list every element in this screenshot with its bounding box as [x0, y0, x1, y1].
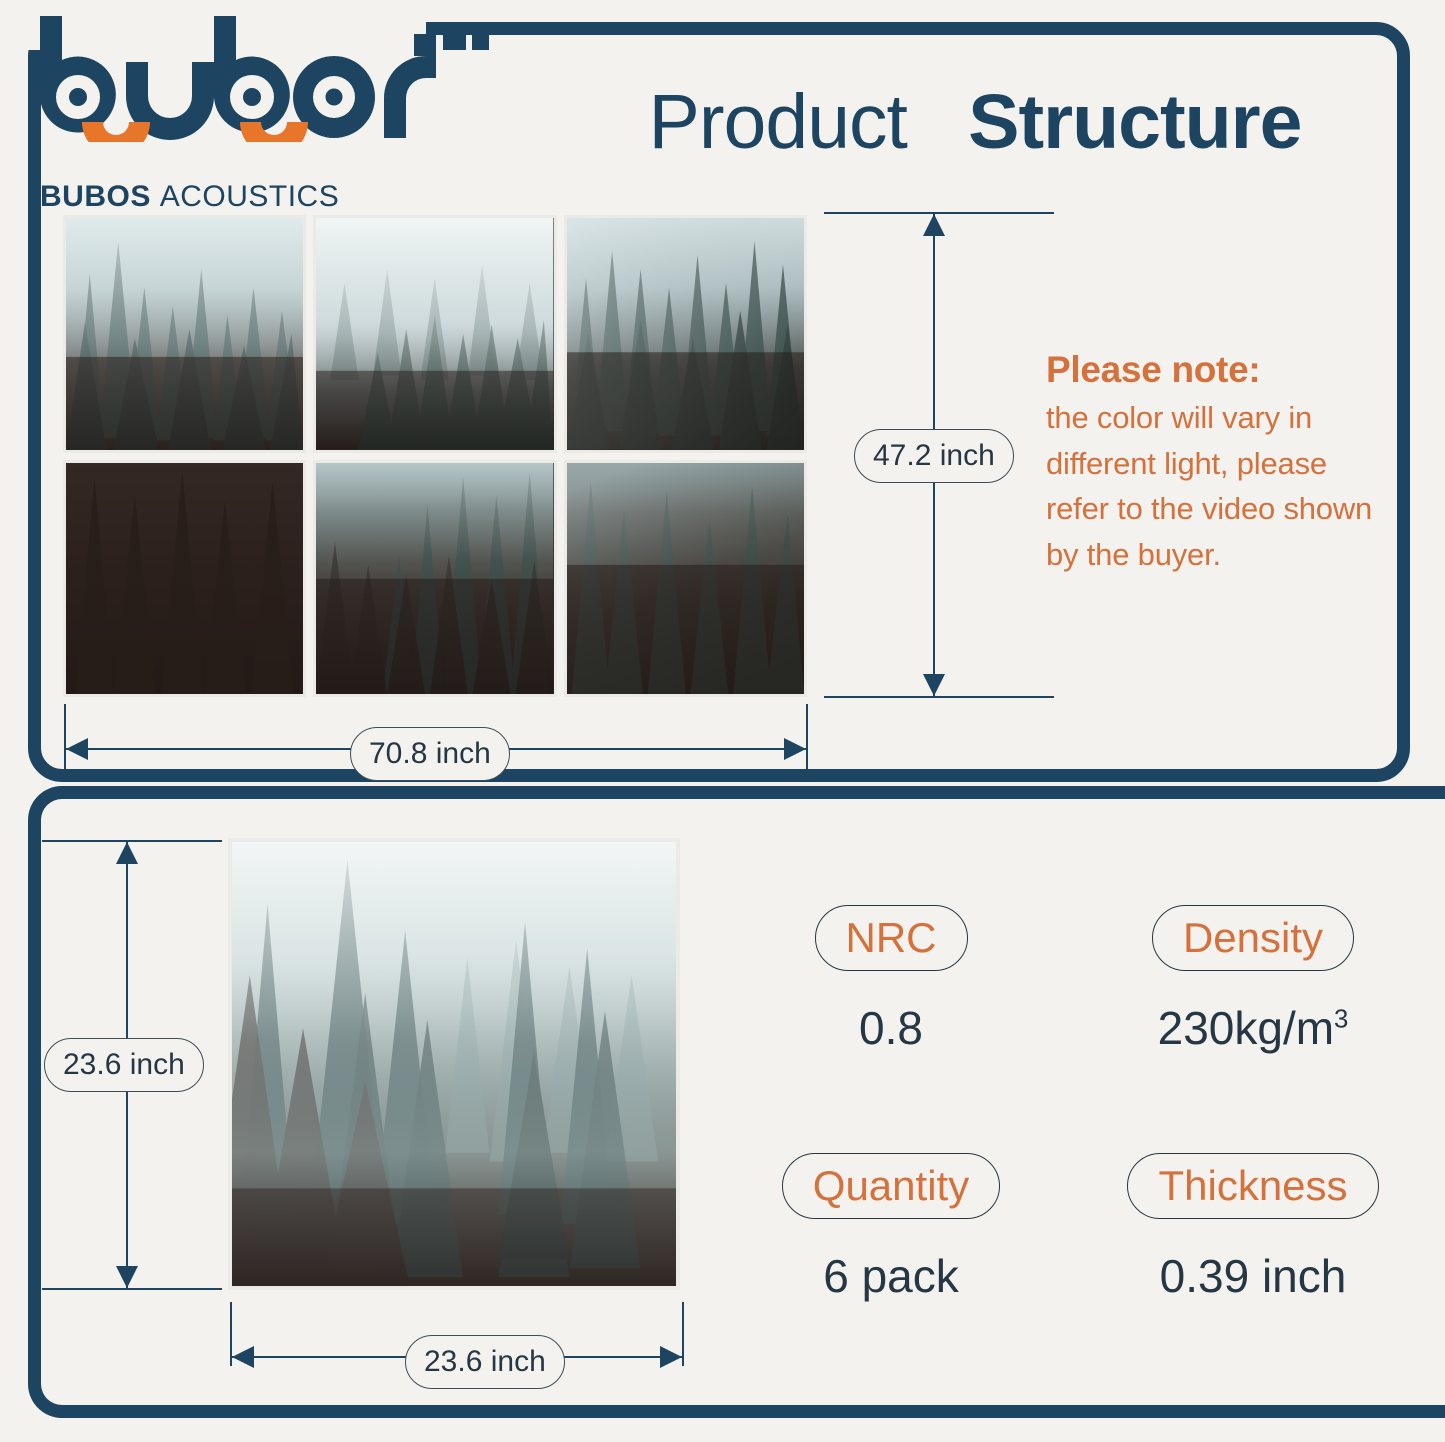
dim-236h-arrow-up: [116, 842, 138, 864]
spec-label-thickness: Thickness: [1127, 1153, 1378, 1219]
brand-tagline: BUBOS ACOUSTICS: [40, 180, 339, 214]
dim-236h-arrow-down: [116, 1266, 138, 1288]
note-heading: Please note:: [1046, 350, 1396, 391]
spec-card-density: Density 230kg/m3: [1103, 905, 1403, 1055]
single-panel-artwork: [228, 838, 680, 1290]
dim-70-arrow-right: [784, 738, 806, 760]
dim-label-height-47: 47.2 inch: [854, 429, 1014, 483]
spec-value-nrc: 0.8: [741, 1001, 1041, 1055]
spec-card-quantity: Quantity 6 pack: [741, 1153, 1041, 1303]
tagline-bold: BUBOS: [40, 180, 151, 213]
dim-47-arrow-down: [923, 674, 945, 696]
page-title-bold: Structure: [968, 79, 1301, 165]
specification-cards: NRC 0.8 Density 230kg/m3 Quantity 6 pack…: [735, 905, 1405, 1335]
panel-row1-col1: [63, 215, 306, 453]
spec-value-thickness: 0.39 inch: [1103, 1249, 1403, 1303]
dim-70-right-tick: [806, 704, 808, 772]
dim-236w-arrow-left: [232, 1346, 254, 1368]
spec-label-nrc: NRC: [815, 905, 968, 971]
panel-row1-col2: [313, 215, 556, 453]
panel-row2-col1: [63, 460, 306, 698]
bubos-wordmark-icon: [22, 12, 492, 142]
brand-logo: BUBOS ACOUSTICS: [22, 12, 492, 207]
spec-card-thickness: Thickness 0.39 inch: [1103, 1153, 1403, 1303]
dim-47-bottom-tick: [824, 696, 1054, 698]
dim-236w-right-tick: [682, 1302, 684, 1366]
dim-70-arrow-left: [66, 738, 88, 760]
six-panel-grid: [63, 215, 807, 697]
spec-value-density: 230kg/m3: [1103, 1001, 1403, 1055]
dim-47-arrow-up: [923, 214, 945, 236]
panel-row2-col3: [564, 460, 807, 698]
spec-label-density: Density: [1152, 905, 1354, 971]
please-note-block: Please note: the color will vary in diff…: [1046, 350, 1396, 578]
spec-value-quantity: 6 pack: [741, 1249, 1041, 1303]
product-structure-infographic: BUBOS ACOUSTICS Product Structure: [0, 0, 1445, 1442]
spec-value-density-exponent: 3: [1334, 1006, 1348, 1034]
spec-card-nrc: NRC 0.8: [741, 905, 1041, 1055]
dim-label-height-236: 23.6 inch: [44, 1038, 204, 1092]
spec-label-quantity: Quantity: [782, 1153, 1000, 1219]
dim-label-width-70: 70.8 inch: [350, 727, 510, 781]
spec-value-density-text: 230kg/m: [1158, 1002, 1334, 1054]
page-title: Product Structure: [560, 78, 1390, 167]
note-body: the color will vary in different light, …: [1046, 395, 1396, 579]
panel-row2-col2: [313, 460, 556, 698]
tagline-light: ACOUSTICS: [160, 180, 340, 213]
panel-row1-col3: [564, 215, 807, 453]
dim-236h-bottom-tick: [42, 1288, 222, 1290]
dim-label-width-236: 23.6 inch: [405, 1335, 565, 1389]
dim-236w-arrow-right: [660, 1346, 682, 1368]
page-title-regular: Product: [649, 79, 907, 165]
